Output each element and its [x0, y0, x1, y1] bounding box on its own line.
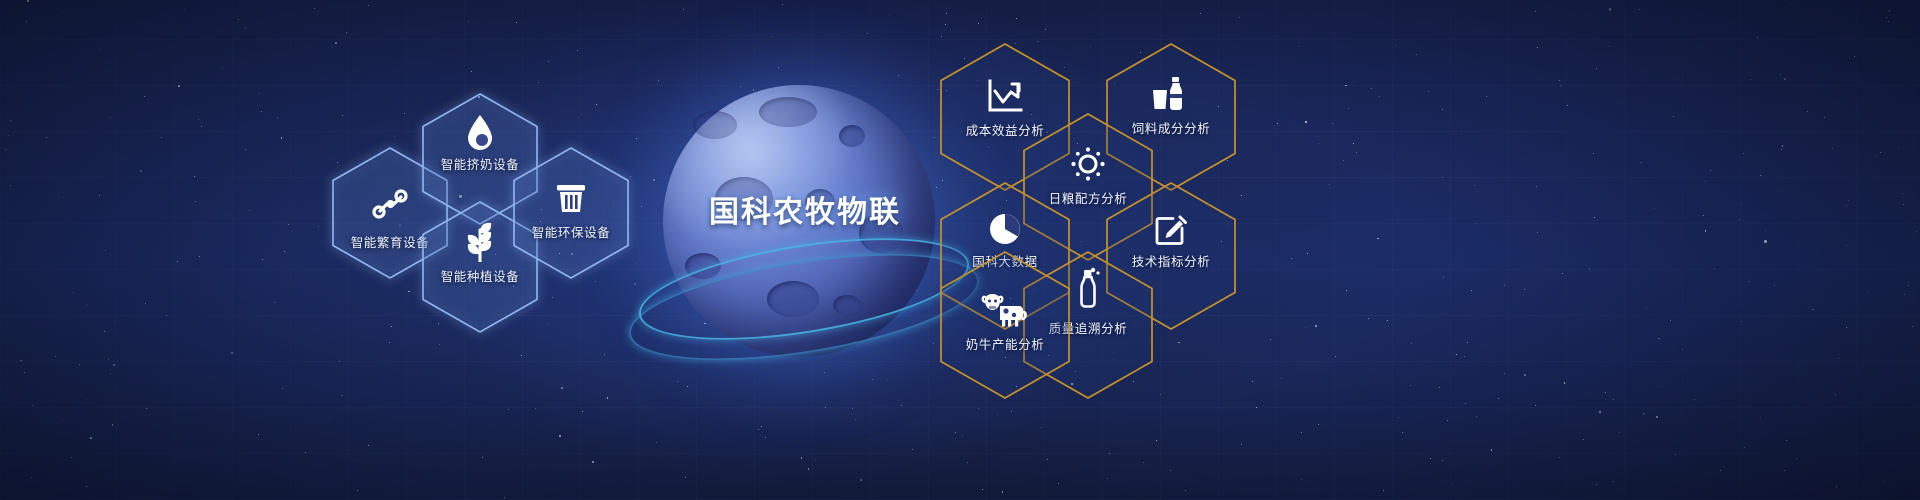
hex-label: 奶牛产能分析: [927, 334, 1083, 353]
page-title: 国科农牧物联: [645, 187, 965, 231]
pencil-edit-icon: [1105, 209, 1237, 249]
center-planet-group: 国科农牧物联: [645, 75, 965, 375]
hero-banner: 国科农牧物联 智能繁育设备 智: [0, 0, 1920, 500]
cow-icon: [939, 290, 1071, 330]
hex-label: 智能环保设备: [496, 222, 646, 241]
trash-bin-icon: [512, 178, 630, 218]
hex-tile-environment[interactable]: 智能环保设备: [512, 146, 630, 280]
line-chart-icon: [939, 76, 1071, 116]
sun-icon: [1022, 144, 1154, 184]
hex-tile-cow-capacity[interactable]: 奶牛产能分析: [939, 250, 1071, 400]
milk-bottle-cup-icon: [1105, 74, 1237, 114]
